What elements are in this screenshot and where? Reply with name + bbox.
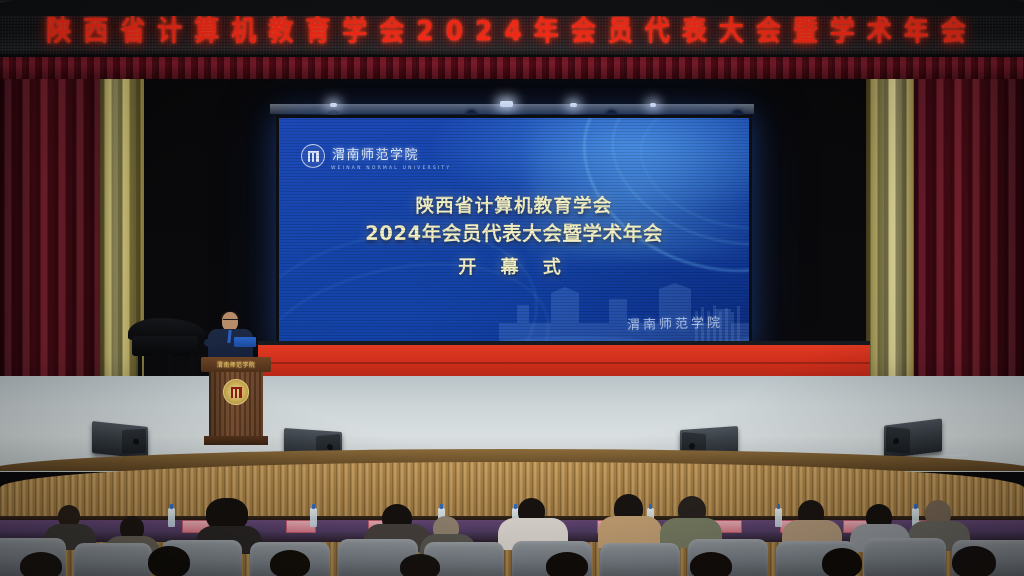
podium-base: [204, 436, 268, 445]
ceiling-light: [500, 101, 513, 107]
university-seal-icon: [223, 379, 249, 405]
podium-top-rail: 渭南师范学院: [201, 357, 271, 372]
ceiling-light: [330, 103, 337, 107]
auditorium-seat: [600, 543, 680, 576]
water-bottle: [168, 508, 175, 527]
screen-scanlines: [279, 118, 749, 348]
presenter-laptop: [234, 337, 256, 347]
auditorium-seat: [74, 543, 152, 576]
glasses-icon: [223, 319, 238, 324]
audience-head: [400, 554, 440, 576]
stage-light-rail: [270, 104, 754, 114]
water-bottle: [310, 508, 317, 527]
audience-head: [270, 550, 310, 576]
floor-monitor-speaker: [92, 421, 148, 459]
audience-head: [546, 552, 588, 576]
speaker-podium: 渭南师范学院: [205, 357, 267, 445]
audience-head: [148, 546, 190, 576]
audience-head: [822, 548, 862, 576]
auditorium-scene: 渭南师范学院 WEINAN NORMAL UNIVERSITY 陕西省计算机教育…: [0, 0, 1024, 576]
podium-front-text: 渭南师范学院: [201, 360, 271, 369]
audience-head: [952, 546, 996, 576]
ceiling-light: [650, 103, 656, 107]
led-banner: 陕西省计算机教育学会2024年会员代表大会暨学术年会: [0, 0, 1024, 57]
water-bottle: [775, 508, 782, 527]
ceiling-light: [570, 103, 577, 107]
audience-head: [20, 552, 62, 576]
stage-riser-steps: [258, 345, 870, 379]
grand-piano: [128, 318, 210, 378]
audience-head: [690, 552, 732, 576]
auditorium-seat: [864, 538, 946, 576]
presentation-screen: 渭南师范学院 WEINAN NORMAL UNIVERSITY 陕西省计算机教育…: [276, 115, 752, 351]
